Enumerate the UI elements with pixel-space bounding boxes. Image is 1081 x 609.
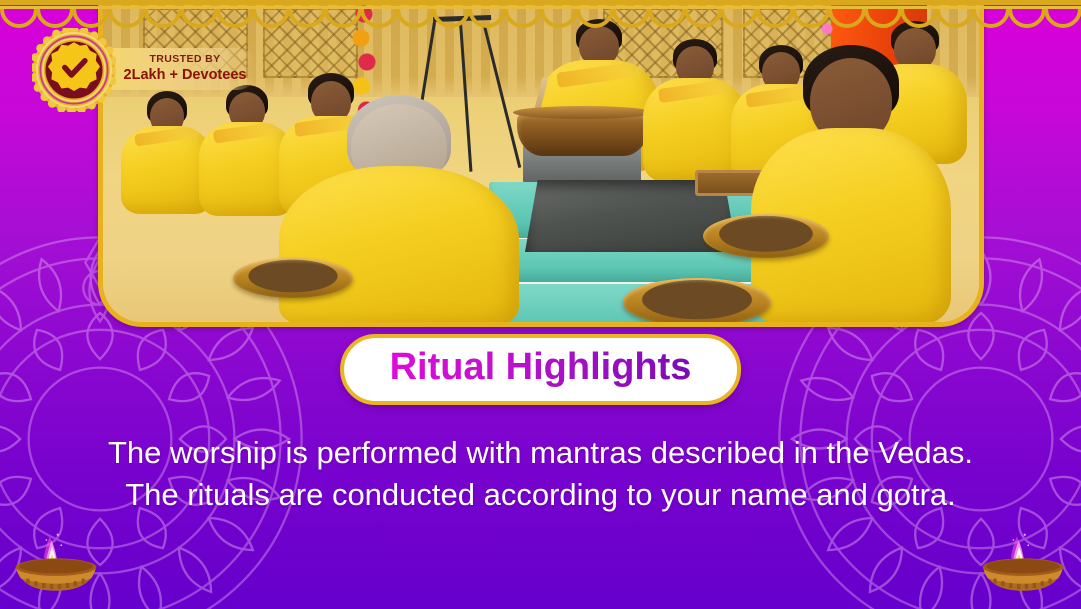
priest-figure-foreground — [751, 48, 951, 322]
page-title: Ritual Highlights — [390, 347, 692, 388]
grain-offering-plate — [703, 214, 829, 258]
diya-lamp-left — [2, 519, 110, 603]
trusted-by-label: TRUSTED BY — [149, 54, 220, 66]
wall-lattice-panel — [263, 8, 358, 78]
devotee-count-label: 2Lakh + Devotees — [124, 66, 247, 84]
body-line-2: The rituals are conducted according to y… — [40, 474, 1041, 516]
grain-offering-plate — [623, 278, 771, 322]
section-title-pill: Ritual Highlights — [340, 334, 742, 405]
verified-check-medallion — [32, 28, 116, 112]
body-line-1: The worship is performed with mantras de… — [40, 432, 1041, 474]
body-copy: The worship is performed with mantras de… — [0, 432, 1081, 516]
grain-offering-plate — [233, 258, 353, 298]
ritual-highlights-slide: TRUSTED BY 2Lakh + Devotees — [0, 0, 1081, 609]
brass-vessel — [517, 112, 649, 156]
diya-lamp-right — [969, 519, 1077, 603]
